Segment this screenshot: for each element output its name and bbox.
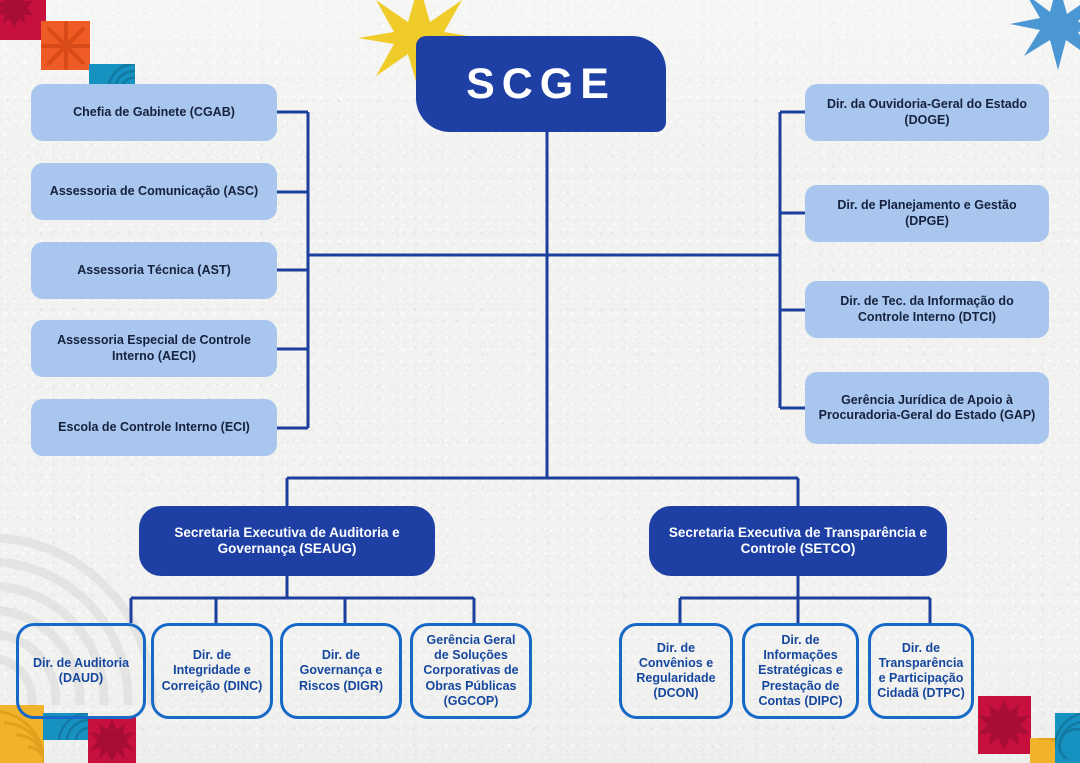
org-root-header[interactable]: SCGE: [416, 36, 666, 132]
node-dipc[interactable]: Dir. de Informações Estratégicas e Prest…: [742, 623, 859, 719]
node-label: Dir. de Tec. da Informação do Controle I…: [815, 294, 1039, 325]
node-aeci[interactable]: Assessoria Especial de Controle Interno …: [31, 320, 277, 377]
deco-teal-wave-bottom-right: [1055, 713, 1080, 763]
node-label: Dir. de Transparência e Participação Cid…: [877, 641, 965, 702]
node-dpge[interactable]: Dir. de Planejamento e Gestão (DPGE): [805, 185, 1049, 242]
node-label: Gerência Geral de Soluções Corporativas …: [419, 633, 523, 709]
org-chart-canvas: SCGE Chefia de Gabinete (CGAB) Assessori…: [0, 0, 1080, 763]
deco-teal-wave-top-left: [89, 64, 135, 84]
node-label: Chefia de Gabinete (CGAB): [73, 105, 235, 120]
node-dtpc[interactable]: Dir. de Transparência e Participação Cid…: [868, 623, 974, 719]
node-gap[interactable]: Gerência Jurídica de Apoio à Procuradori…: [805, 372, 1049, 444]
node-label: Secretaria Executiva de Transparência e …: [663, 525, 933, 558]
node-label: Dir. de Planejamento e Gestão (DPGE): [815, 198, 1039, 229]
deco-crimson-starburst-bottom-left: [88, 717, 136, 763]
node-label: Dir. de Informações Estratégicas e Prest…: [751, 633, 850, 709]
node-label: Assessoria Especial de Controle Interno …: [41, 333, 267, 364]
node-ggcop[interactable]: Gerência Geral de Soluções Corporativas …: [410, 623, 532, 719]
node-setco[interactable]: Secretaria Executiva de Transparência e …: [649, 506, 947, 576]
node-label: Dir. da Ouvidoria-Geral do Estado (DOGE): [815, 97, 1039, 128]
node-eci[interactable]: Escola de Controle Interno (ECI): [31, 399, 277, 456]
node-label: Gerência Jurídica de Apoio à Procuradori…: [815, 393, 1039, 424]
node-seaug[interactable]: Secretaria Executiva de Auditoria e Gove…: [139, 506, 435, 576]
node-daud[interactable]: Dir. de Auditoria (DAUD): [16, 623, 146, 719]
node-label: Escola de Controle Interno (ECI): [58, 420, 250, 435]
node-asc[interactable]: Assessoria de Comunicação (ASC): [31, 163, 277, 220]
deco-crimson-starburst-bottom-right: [978, 696, 1031, 754]
deco-blue-starburst-top-right: [1010, 0, 1080, 70]
node-label: Dir. de Convênios e Regularidade (DCON): [628, 641, 724, 702]
node-label: Assessoria de Comunicação (ASC): [50, 184, 258, 199]
node-dinc[interactable]: Dir. de Integridade e Correição (DINC): [151, 623, 273, 719]
node-label: Assessoria Técnica (AST): [77, 263, 231, 278]
node-dcon[interactable]: Dir. de Convênios e Regularidade (DCON): [619, 623, 733, 719]
node-digr[interactable]: Dir. de Governança e Riscos (DIGR): [280, 623, 402, 719]
node-label: Secretaria Executiva de Auditoria e Gove…: [153, 525, 421, 558]
node-ast[interactable]: Assessoria Técnica (AST): [31, 242, 277, 299]
page-title: SCGE: [466, 60, 616, 109]
node-doge[interactable]: Dir. da Ouvidoria-Geral do Estado (DOGE): [805, 84, 1049, 141]
node-label: Dir. de Integridade e Correição (DINC): [160, 648, 264, 694]
node-label: Dir. de Auditoria (DAUD): [25, 656, 137, 687]
node-label: Dir. de Governança e Riscos (DIGR): [289, 648, 393, 694]
deco-crimson-starburst-top-left: [0, 0, 46, 40]
deco-orange-star-top-left: [41, 21, 90, 70]
node-dtci[interactable]: Dir. de Tec. da Informação do Controle I…: [805, 281, 1049, 338]
node-cgab[interactable]: Chefia de Gabinete (CGAB): [31, 84, 277, 141]
